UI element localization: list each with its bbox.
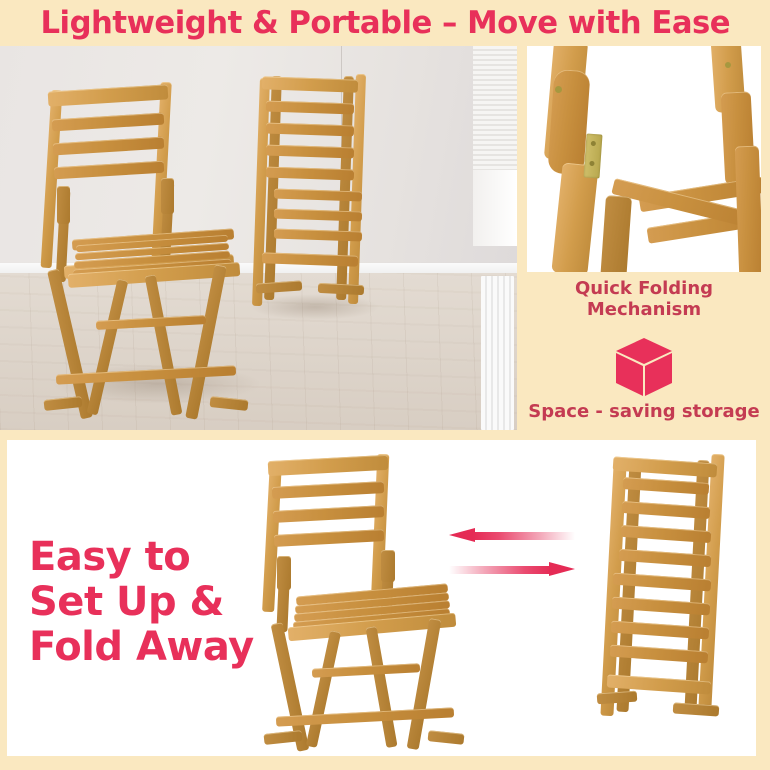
detail-caption: Quick Folding Mechanism — [527, 278, 761, 320]
page-title: Lightweight & Portable – Move with Ease — [40, 5, 730, 41]
bottom-panel: Easy to Set Up & Fold Away — [7, 440, 756, 756]
chair-folded-bottom — [593, 448, 743, 746]
arrow-right-icon — [449, 562, 575, 577]
radiator — [481, 276, 515, 430]
brass-hinge — [583, 133, 602, 178]
detail-panel: Quick Folding Mechanism Space - saving s… — [527, 46, 761, 430]
headline-line-1: Easy to — [29, 535, 269, 580]
storage-caption: Space - saving storage — [527, 401, 761, 422]
arrow-left-icon — [449, 528, 575, 543]
chair-open-room — [40, 82, 250, 402]
screw-icon — [725, 62, 731, 68]
screw-icon — [555, 86, 562, 93]
header-banner: Lightweight & Portable – Move with Ease — [0, 0, 770, 46]
transition-arrows — [447, 520, 587, 590]
hinge-closeup-photo — [527, 46, 761, 272]
bottom-headline: Easy to Set Up & Fold Away — [29, 535, 269, 669]
headline-line-2: Set Up & — [29, 580, 269, 625]
window — [473, 46, 517, 246]
chair-folded-room — [252, 74, 377, 306]
chair-open-bottom — [252, 450, 462, 740]
room-photo-panel — [0, 46, 517, 430]
infographic-canvas: Lightweight & Portable – Move with Ease — [0, 0, 770, 770]
detail-caption-line1: Quick Folding — [527, 278, 761, 299]
window-blind — [473, 46, 517, 170]
headline-line-3: Fold Away — [29, 625, 269, 670]
box-3d-icon — [613, 336, 675, 398]
detail-caption-line2: Mechanism — [527, 299, 761, 320]
